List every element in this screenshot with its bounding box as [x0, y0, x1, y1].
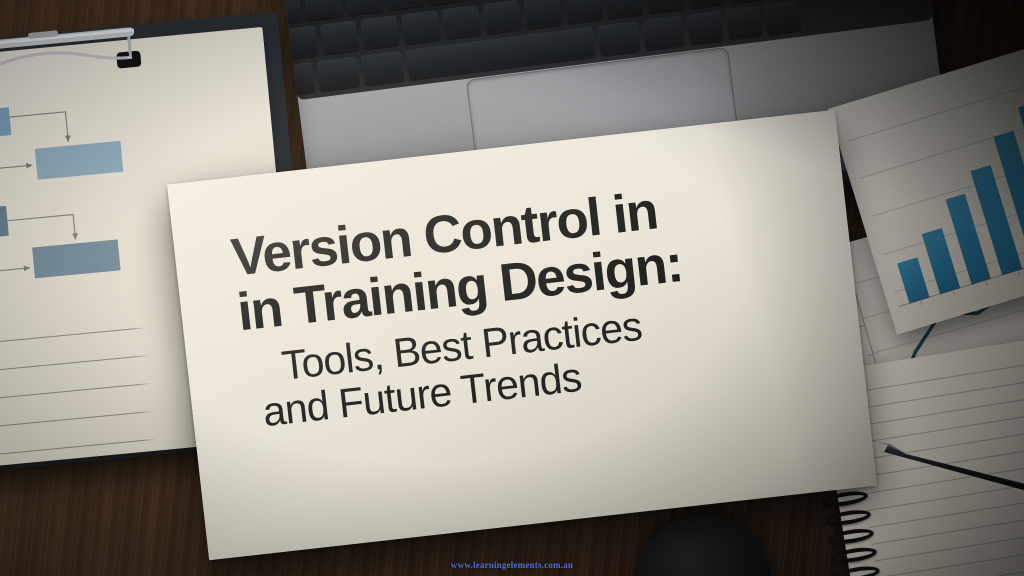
photo-scene: Version Control in in Training Design: T… [0, 0, 1024, 576]
spiral-ring [824, 508, 871, 528]
ballpoint-pen [862, 430, 1024, 500]
key [645, 0, 684, 13]
key [642, 15, 685, 50]
arrow-key [725, 6, 762, 40]
key [425, 0, 464, 5]
key [361, 51, 404, 86]
key [442, 5, 481, 39]
key [303, 0, 342, 20]
key [604, 0, 643, 19]
key [316, 57, 359, 92]
key [320, 20, 359, 54]
key [597, 21, 640, 56]
key [344, 0, 383, 15]
key [401, 10, 440, 44]
ruled-line [0, 383, 151, 404]
key [279, 25, 318, 62]
tick [868, 354, 873, 356]
arrow-key [686, 11, 723, 45]
tick [859, 325, 864, 327]
key [686, 0, 725, 8]
key [482, 0, 521, 34]
key [727, 0, 766, 3]
watermark: www.learningelements.com.au [0, 560, 1024, 570]
ruled-line [850, 374, 1024, 410]
key [385, 0, 424, 10]
key [523, 0, 562, 29]
key [279, 0, 302, 27]
ruled-line [0, 411, 154, 432]
printed-title-sheet: Version Control in in Training Design: T… [167, 110, 877, 561]
spiral-ring [827, 526, 874, 546]
tick [920, 301, 922, 305]
tick [985, 281, 987, 285]
ruled-line [0, 327, 146, 348]
bar [922, 228, 960, 295]
tick [1018, 271, 1020, 275]
ruled-line [853, 391, 1024, 427]
key [360, 15, 399, 49]
tick [953, 291, 955, 295]
ruled-line [0, 355, 149, 376]
title-text-block: Version Control in in Training Design: T… [167, 110, 877, 561]
arrow-key [764, 1, 801, 35]
key [564, 0, 603, 24]
